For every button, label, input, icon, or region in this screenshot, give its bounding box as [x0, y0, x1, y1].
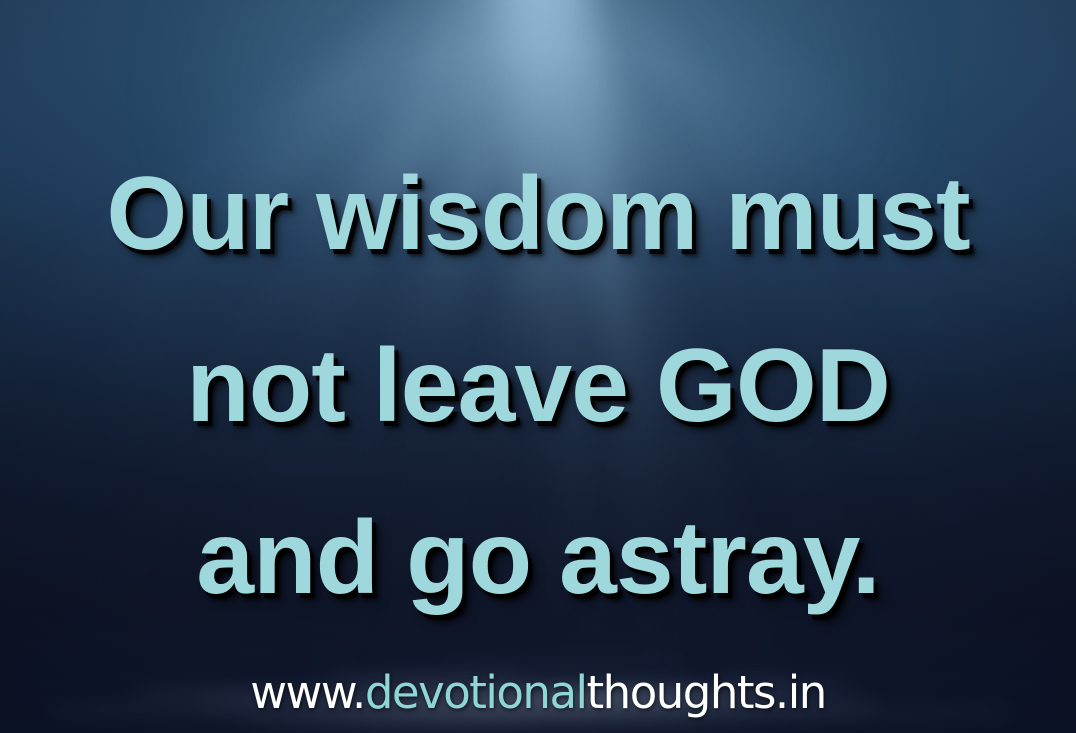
- quote-line-1: Our wisdom must: [0, 128, 1076, 300]
- content-layer: Our wisdom must not leave GOD and go ast…: [0, 0, 1076, 733]
- quote-text-block: Our wisdom must not leave GOD and go ast…: [0, 128, 1076, 644]
- quote-card: Our wisdom must not leave GOD and go ast…: [0, 0, 1076, 733]
- quote-line-3: and go astray.: [0, 472, 1076, 644]
- quote-line-2: not leave GOD: [0, 300, 1076, 472]
